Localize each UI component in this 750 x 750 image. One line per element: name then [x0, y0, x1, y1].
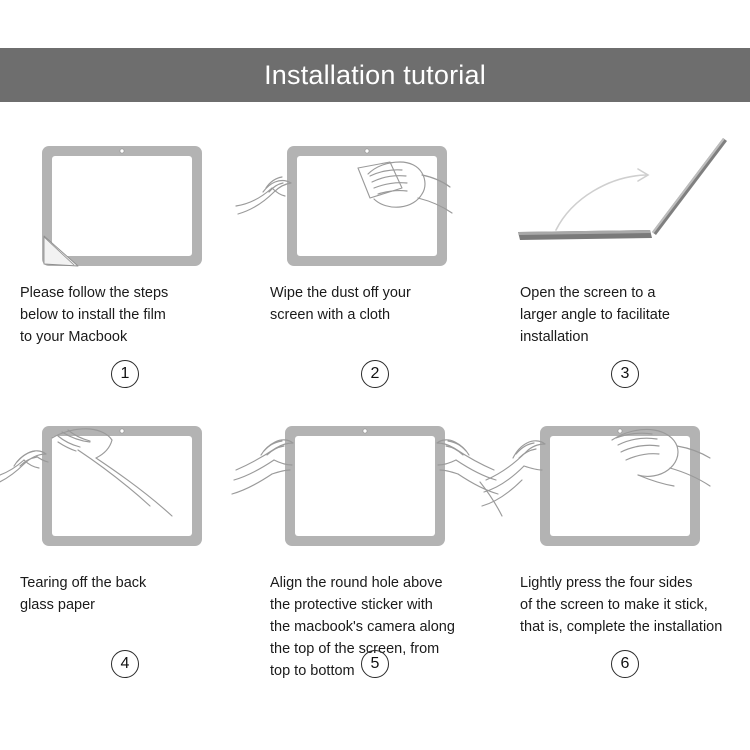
- step-3-number: 3: [500, 360, 750, 388]
- page-title: Installation tutorial: [264, 62, 486, 89]
- step-4-caption: Tearing off the back glass paper: [0, 572, 250, 616]
- screen-frame-icon: [287, 146, 447, 266]
- step-number-badge: 2: [361, 360, 389, 388]
- step-3-caption: Open the screen to a larger angle to fac…: [500, 282, 750, 348]
- step-number-badge: 3: [611, 360, 639, 388]
- step-4-number: 4: [0, 650, 250, 678]
- step-2-number: 2: [250, 360, 500, 388]
- step-5-illustration: [250, 408, 500, 558]
- screen-frame-icon: [42, 426, 202, 546]
- tutorial-step-5: Align the round hole above the protectiv…: [250, 408, 500, 708]
- opening-arrow-icon: [556, 169, 648, 230]
- tutorial-step-3: Open the screen to a larger angle to fac…: [500, 118, 750, 408]
- step-number-badge: 1: [111, 360, 139, 388]
- tutorial-step-4: Tearing off the back glass paper 4: [0, 408, 250, 708]
- step-1-caption: Please follow the steps below to install…: [0, 282, 250, 348]
- step-number-badge: 6: [611, 650, 639, 678]
- right-gripping-hand-icon: [437, 440, 502, 516]
- step-number-badge: 5: [361, 650, 389, 678]
- step-6-caption: Lightly press the four sides of the scre…: [500, 572, 750, 638]
- step-4-illustration: [0, 408, 250, 558]
- tutorial-step-2: Wipe the dust off your screen with a clo…: [250, 118, 500, 408]
- step-3-illustration: [500, 118, 750, 268]
- tutorial-step-1: Please follow the steps below to install…: [0, 118, 250, 408]
- laptop-lid-icon: [652, 138, 727, 235]
- screen-frame-icon: [42, 146, 202, 266]
- laptop-base-icon: [518, 230, 652, 240]
- header-banner: Installation tutorial: [0, 48, 750, 102]
- step-2-caption: Wipe the dust off your screen with a clo…: [250, 282, 500, 326]
- step-6-number: 6: [500, 650, 750, 678]
- step-number-badge: 4: [111, 650, 139, 678]
- tutorial-step-6: Lightly press the four sides of the scre…: [500, 408, 750, 708]
- step-5-number: 5: [250, 650, 500, 678]
- step-1-number: 1: [0, 360, 250, 388]
- pinching-hand-icon: [0, 451, 48, 486]
- tutorial-steps-grid: Please follow the steps below to install…: [0, 118, 750, 708]
- step-6-illustration: [500, 408, 750, 558]
- step-2-illustration: [250, 118, 500, 268]
- step-1-illustration: [0, 118, 250, 268]
- screen-frame-icon: [285, 426, 445, 546]
